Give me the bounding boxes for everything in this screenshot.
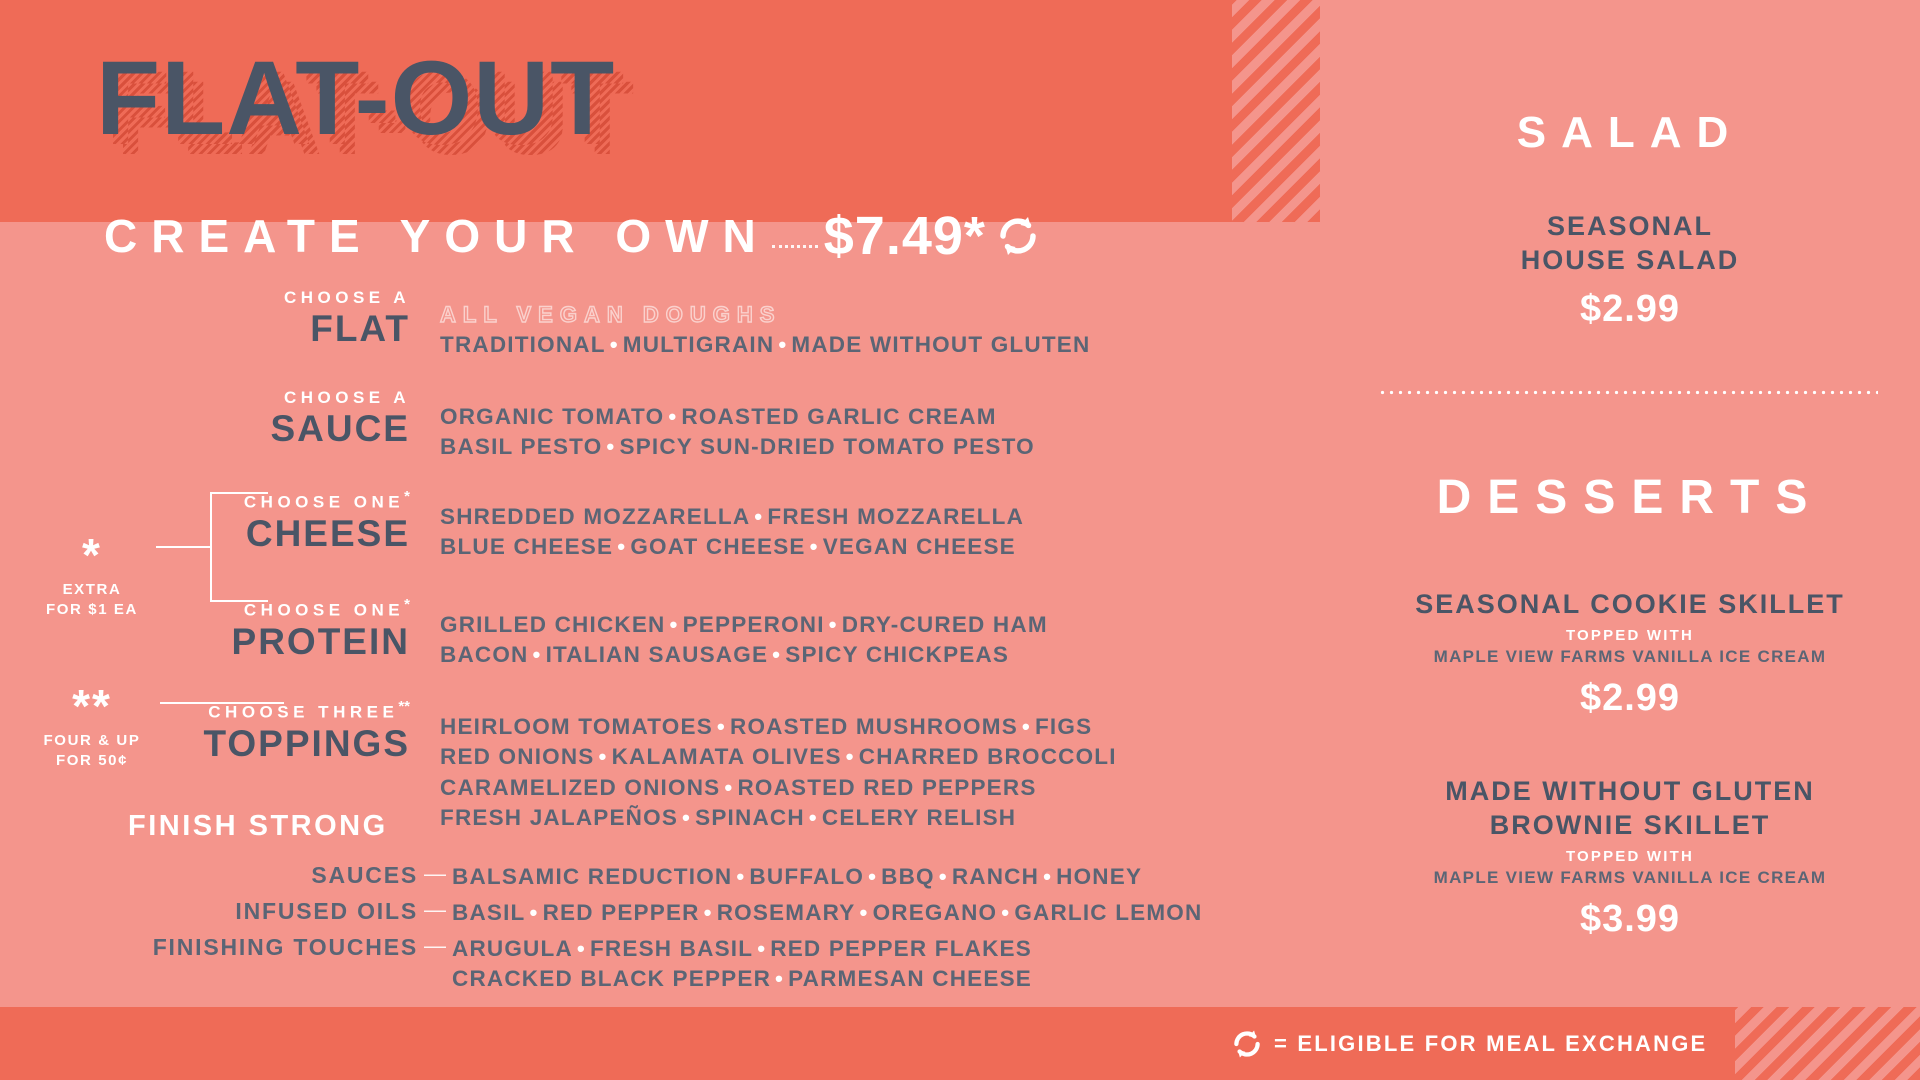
item-text: BLUE CHEESE (440, 534, 613, 559)
toppings-bracket-stem (160, 702, 284, 704)
bullet-separator: • (1039, 864, 1056, 889)
bullet-separator: • (613, 534, 630, 559)
item-line: HEIRLOOM TOMATOES•ROASTED MUSHROOMS•FIGS (440, 712, 1117, 742)
dessert-topped-with-label: TOPPED WITH (1340, 627, 1920, 644)
item-text: HONEY (1056, 864, 1142, 889)
item-text: SPICY CHICKPEAS (785, 642, 1009, 667)
item-line: BALSAMIC REDUCTION•BUFFALO•BBQ•RANCH•HON… (452, 862, 1142, 892)
choose-text: CHOOSE THREE (208, 703, 398, 722)
item-text: SPINACH (695, 805, 805, 830)
meal-exchange-icon (1230, 1027, 1264, 1061)
finish-row-items: BASIL•RED PEPPER•ROSEMARY•OREGANO•GARLIC… (452, 898, 1202, 928)
item-text: SHREDDED MOZZARELLA (440, 504, 750, 529)
item-text: FRESH JALAPEÑOS (440, 805, 678, 830)
item-text: MADE WITHOUT GLUTEN (791, 332, 1090, 357)
bullet-separator: • (526, 900, 543, 925)
item-line: CRACKED BLACK PEPPER•PARMESAN CHEESE (452, 964, 1032, 994)
item-text: ROSEMARY (717, 900, 856, 925)
footnote-mark: ** (398, 698, 410, 715)
bullet-separator: • (1018, 714, 1035, 739)
footnote-line-1: FOUR & UP (22, 731, 162, 751)
bullet-separator: • (732, 864, 749, 889)
dessert-topped-with-label: TOPPED WITH (1340, 848, 1920, 865)
build-row-flat-items: ALL VEGAN DOUGHS TRADITIONAL•MULTIGRAIN•… (440, 288, 1090, 361)
build-row-toppings-items: HEIRLOOM TOMATOES•ROASTED MUSHROOMS•FIGS… (440, 698, 1117, 834)
item-text: CHARRED BROCCOLI (859, 744, 1117, 769)
bullet-separator: • (750, 504, 767, 529)
item-text: PEPPERONI (683, 612, 825, 637)
item-text: OREGANO (873, 900, 998, 925)
leader-dots (772, 225, 818, 248)
bullet-separator: • (825, 612, 842, 637)
salad-item-name-line2: HOUSE SALAD (1340, 244, 1920, 278)
bullet-separator: • (678, 805, 695, 830)
bullet-separator: • (602, 434, 619, 459)
build-row-sauce-label: CHOOSE A SAUCE (0, 388, 440, 463)
item-text: BASIL PESTO (440, 434, 602, 459)
salad-heading: SALAD (1340, 108, 1920, 158)
item-text: ROASTED MUSHROOMS (730, 714, 1018, 739)
bullet-separator: • (606, 332, 623, 357)
bullet-separator: • (700, 900, 717, 925)
footer-legend-text: = ELIGIBLE FOR MEAL EXCHANGE (1274, 1031, 1707, 1057)
item-text: BASIL (452, 900, 526, 925)
finish-row-dash: — (418, 862, 452, 886)
item-text: ITALIAN SAUSAGE (546, 642, 769, 667)
finish-row-label: SAUCES (0, 862, 418, 889)
build-row-protein-items: GRILLED CHICKEN•PEPPERONI•DRY-CURED HAM … (440, 596, 1048, 671)
item-text: ROASTED RED PEPPERS (737, 775, 1036, 800)
category-label: FLAT (0, 310, 410, 349)
dessert-item-name: SEASONAL COOKIE SKILLET (1340, 588, 1920, 622)
item-line: FRESH JALAPEÑOS•SPINACH•CELERY RELISH (440, 803, 1117, 833)
item-text: VEGAN CHEESE (823, 534, 1016, 559)
build-row-flat-label: CHOOSE A FLAT (0, 288, 440, 361)
dessert-item: SEASONAL COOKIE SKILLET TOPPED WITH MAPL… (1340, 588, 1920, 720)
item-line: BLUE CHEESE•GOAT CHEESE•VEGAN CHEESE (440, 532, 1024, 562)
salad-item-name-line1: SEASONAL (1340, 210, 1920, 244)
header-stripe-pattern (1232, 0, 1320, 222)
choose-label: CHOOSE ONE* (0, 488, 410, 513)
bullet-separator: • (713, 714, 730, 739)
item-text: KALAMATA OLIVES (612, 744, 842, 769)
salad-item: SEASONAL HOUSE SALAD $2.99 (1340, 210, 1920, 331)
item-text: RED PEPPER FLAKES (770, 936, 1032, 961)
item-text: BALSAMIC REDUCTION (452, 864, 732, 889)
meal-exchange-icon (994, 212, 1042, 260)
brand-logo: FLAT-OUT FLAT-OUT FLAT-OUT (96, 46, 615, 156)
item-text: PARMESAN CHEESE (788, 966, 1032, 991)
bullet-separator: • (842, 744, 859, 769)
create-your-own-label: CREATE YOUR OWN (104, 209, 770, 263)
create-your-own-price: $7.49* (824, 205, 986, 267)
item-text: GARLIC LEMON (1014, 900, 1202, 925)
dessert-item-price: $2.99 (1340, 677, 1920, 720)
item-text: SPICY SUN-DRIED TOMATO PESTO (619, 434, 1034, 459)
build-row-protein: CHOOSE ONE* PROTEIN GRILLED CHICKEN•PEPP… (0, 596, 1300, 671)
footnote-line-2: FOR $1 EA (28, 600, 156, 620)
item-line: BACON•ITALIAN SAUSAGE•SPICY CHICKPEAS (440, 640, 1048, 670)
vegan-dough-note: ALL VEGAN DOUGHS (440, 302, 1090, 328)
item-text: GRILLED CHICKEN (440, 612, 666, 637)
item-line: ORGANIC TOMATO•ROASTED GARLIC CREAM (440, 402, 1035, 432)
cheese-protein-bracket (210, 492, 268, 602)
bullet-separator: • (720, 775, 737, 800)
bullet-separator: • (774, 332, 791, 357)
item-text: CELERY RELISH (822, 805, 1016, 830)
item-text: GOAT CHEESE (630, 534, 805, 559)
footnote-mark: * (404, 596, 410, 613)
asterisk-mark: * (28, 537, 156, 574)
dessert-topping-detail: MAPLE VIEW FARMS VANILLA ICE CREAM (1340, 647, 1920, 667)
item-text: BBQ (881, 864, 935, 889)
bullet-separator: • (935, 864, 952, 889)
footer-legend: = ELIGIBLE FOR MEAL EXCHANGE (1230, 1007, 1707, 1080)
item-text: HEIRLOOM TOMATOES (440, 714, 713, 739)
bullet-separator: • (806, 534, 823, 559)
finish-row-infused-oils: INFUSED OILS — BASIL•RED PEPPER•ROSEMARY… (0, 898, 1300, 928)
item-text: MULTIGRAIN (623, 332, 775, 357)
desserts-heading: DESSERTS (1340, 470, 1920, 525)
item-text: CRACKED BLACK PEPPER (452, 966, 771, 991)
item-line: BASIL PESTO•SPICY SUN-DRIED TOMATO PESTO (440, 432, 1035, 462)
salad-item-price: $2.99 (1340, 288, 1920, 331)
item-line: CARAMELIZED ONIONS•ROASTED RED PEPPERS (440, 773, 1117, 803)
finish-row-items: ARUGULA•FRESH BASIL•RED PEPPER FLAKES CR… (452, 934, 1032, 995)
item-line: GRILLED CHICKEN•PEPPERONI•DRY-CURED HAM (440, 610, 1048, 640)
category-label: PROTEIN (0, 623, 410, 662)
asterisk-mark: ** (22, 688, 162, 725)
bullet-separator: • (664, 404, 681, 429)
item-text: ROASTED GARLIC CREAM (681, 404, 996, 429)
bullet-separator: • (753, 936, 770, 961)
finish-row-sauces: SAUCES — BALSAMIC REDUCTION•BUFFALO•BBQ•… (0, 862, 1300, 892)
item-text: BUFFALO (749, 864, 864, 889)
finish-row-items: BALSAMIC REDUCTION•BUFFALO•BBQ•RANCH•HON… (452, 862, 1142, 892)
dessert-topping-detail: MAPLE VIEW FARMS VANILLA ICE CREAM (1340, 868, 1920, 888)
footer-stripe-pattern (1735, 1007, 1920, 1080)
item-text: RED PEPPER (543, 900, 700, 925)
dessert-item: MADE WITHOUT GLUTEN BROWNIE SKILLET TOPP… (1340, 775, 1920, 941)
item-line: SHREDDED MOZZARELLA•FRESH MOZZARELLA (440, 502, 1024, 532)
bullet-separator: • (573, 936, 590, 961)
item-text: CARAMELIZED ONIONS (440, 775, 720, 800)
logo-text: FLAT-OUT (96, 46, 615, 151)
item-text: ARUGULA (452, 936, 573, 961)
finish-row-label: INFUSED OILS (0, 898, 418, 925)
item-text: BACON (440, 642, 529, 667)
finish-row-finishing-touches: FINISHING TOUCHES — ARUGULA•FRESH BASIL•… (0, 934, 1300, 995)
choose-label: CHOOSE A (0, 388, 410, 408)
bullet-separator: • (529, 642, 546, 667)
footnote-line-2: FOR 50¢ (22, 751, 162, 771)
build-row-sauce-items: ORGANIC TOMATO•ROASTED GARLIC CREAM BASI… (440, 388, 1035, 463)
bullet-separator: • (997, 900, 1014, 925)
bullet-separator: • (771, 966, 788, 991)
finish-row-label: FINISHING TOUCHES (0, 934, 418, 961)
create-your-own-row: CREATE YOUR OWN $7.49* (104, 205, 1042, 267)
build-row-flat: CHOOSE A FLAT ALL VEGAN DOUGHS TRADITION… (0, 288, 1300, 361)
choose-text: CHOOSE ONE (244, 601, 404, 620)
build-row-cheese-items: SHREDDED MOZZARELLA•FRESH MOZZARELLA BLU… (440, 488, 1024, 563)
dessert-item-price: $3.99 (1340, 898, 1920, 941)
bullet-separator: • (768, 642, 785, 667)
build-row-sauce: CHOOSE A SAUCE ORGANIC TOMATO•ROASTED GA… (0, 388, 1300, 463)
item-line: BASIL•RED PEPPER•ROSEMARY•OREGANO•GARLIC… (452, 898, 1202, 928)
footnote-double-asterisk: ** FOUR & UP FOR 50¢ (22, 688, 162, 771)
bullet-separator: • (864, 864, 881, 889)
bullet-separator: • (805, 805, 822, 830)
menu-board: FLAT-OUT FLAT-OUT FLAT-OUT CREATE YOUR O… (0, 0, 1920, 1080)
item-line: TRADITIONAL•MULTIGRAIN•MADE WITHOUT GLUT… (440, 330, 1090, 360)
dessert-item-name-line1: MADE WITHOUT GLUTEN (1340, 775, 1920, 809)
footnote-single-asterisk: * EXTRA FOR $1 EA (28, 537, 156, 620)
finish-row-dash: — (418, 934, 452, 958)
item-text: FIGS (1035, 714, 1092, 739)
build-row-cheese: CHOOSE ONE* CHEESE SHREDDED MOZZARELLA•F… (0, 488, 1300, 563)
dessert-item-name-line2: BROWNIE SKILLET (1340, 809, 1920, 843)
item-text: FRESH MOZZARELLA (767, 504, 1024, 529)
bullet-separator: • (595, 744, 612, 769)
cheese-protein-bracket-stem (156, 546, 212, 548)
footnote-mark: * (404, 488, 410, 505)
finish-row-dash: — (418, 898, 452, 922)
footnote-line-1: EXTRA (28, 580, 156, 600)
item-text: FRESH BASIL (590, 936, 753, 961)
item-text: ORGANIC TOMATO (440, 404, 664, 429)
choose-label: CHOOSE A (0, 288, 410, 308)
item-line: ARUGULA•FRESH BASIL•RED PEPPER FLAKES (452, 934, 1032, 964)
item-text: RANCH (952, 864, 1039, 889)
item-text: RED ONIONS (440, 744, 595, 769)
category-label: SAUCE (0, 410, 410, 449)
bullet-separator: • (666, 612, 683, 637)
item-text: DRY-CURED HAM (842, 612, 1048, 637)
item-line: RED ONIONS•KALAMATA OLIVES•CHARRED BROCC… (440, 742, 1117, 772)
finish-strong-title: FINISH STRONG (128, 810, 388, 843)
bullet-separator: • (855, 900, 872, 925)
section-divider-dotted (1378, 390, 1878, 395)
item-text: TRADITIONAL (440, 332, 606, 357)
